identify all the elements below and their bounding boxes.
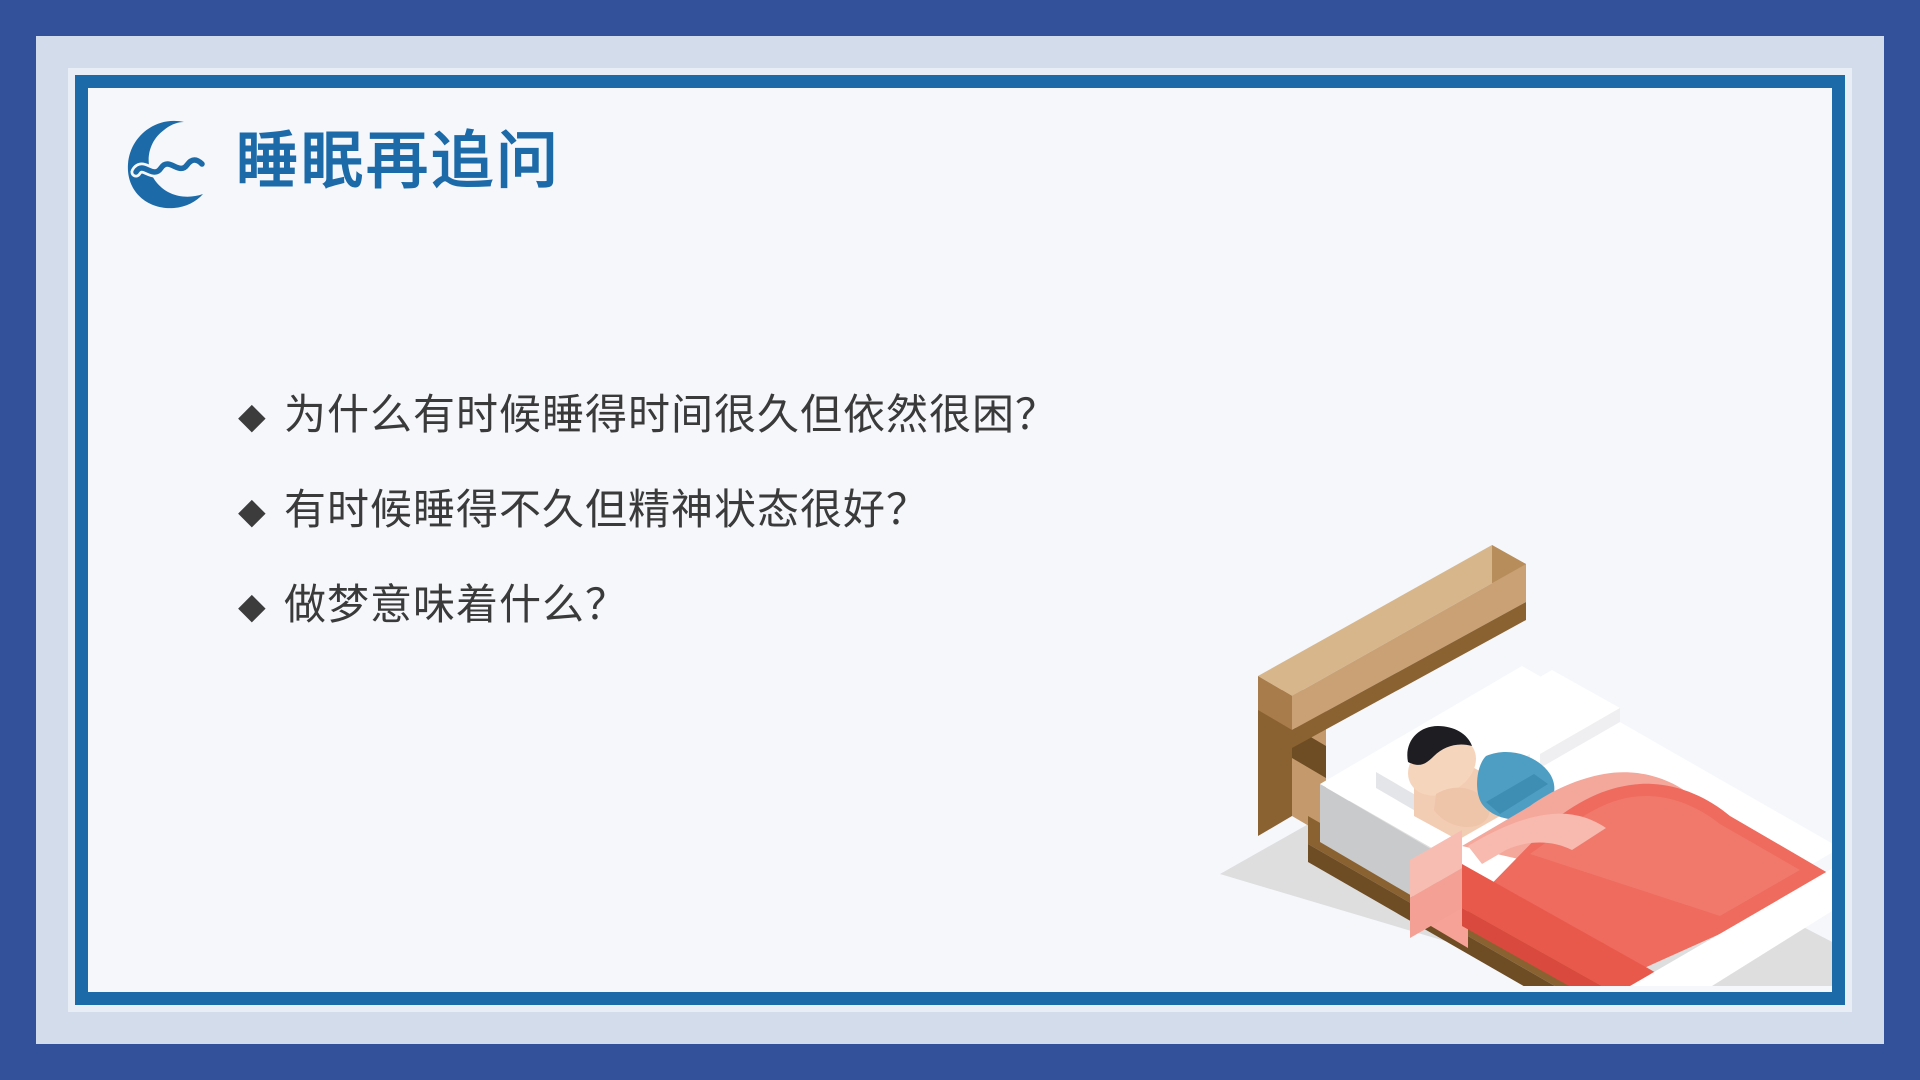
frame-light-band: 睡眠再追问 ◆ 为什么有时候睡得时间很久但依然很困？ ◆ 有时候睡得不久但精神状… xyxy=(36,36,1884,1044)
slide-header: 睡眠再追问 xyxy=(110,110,561,214)
slide-content-area: 睡眠再追问 ◆ 为什么有时候睡得时间很久但依然很困？ ◆ 有时候睡得不久但精神状… xyxy=(75,75,1845,1005)
list-item-label: 为什么有时候睡得时间很久但依然很困？ xyxy=(284,392,1058,438)
diamond-bullet-icon: ◆ xyxy=(238,588,284,624)
list-item: ◆ 为什么有时候睡得时间很久但依然很困？ xyxy=(238,368,1388,463)
diamond-bullet-icon: ◆ xyxy=(238,398,284,434)
slide-root: 睡眠再追问 ◆ 为什么有时候睡得时间很久但依然很困？ ◆ 有时候睡得不久但精神状… xyxy=(0,0,1920,1080)
bullet-list: ◆ 为什么有时候睡得时间很久但依然很困？ ◆ 有时候睡得不久但精神状态很好？ ◆… xyxy=(238,368,1388,653)
page-title: 睡眠再追问 xyxy=(236,131,561,193)
list-item: ◆ 做梦意味着什么？ xyxy=(238,558,1388,653)
crescent-moon-with-waves-icon xyxy=(110,110,214,214)
list-item-label: 做梦意味着什么？ xyxy=(284,582,628,628)
diamond-bullet-icon: ◆ xyxy=(238,493,284,529)
list-item-label: 有时候睡得不久但精神状态很好？ xyxy=(284,487,929,533)
list-item: ◆ 有时候睡得不久但精神状态很好？ xyxy=(238,463,1388,558)
frame-inner-gap: 睡眠再追问 ◆ 为什么有时候睡得时间很久但依然很困？ ◆ 有时候睡得不久但精神状… xyxy=(68,68,1852,1012)
